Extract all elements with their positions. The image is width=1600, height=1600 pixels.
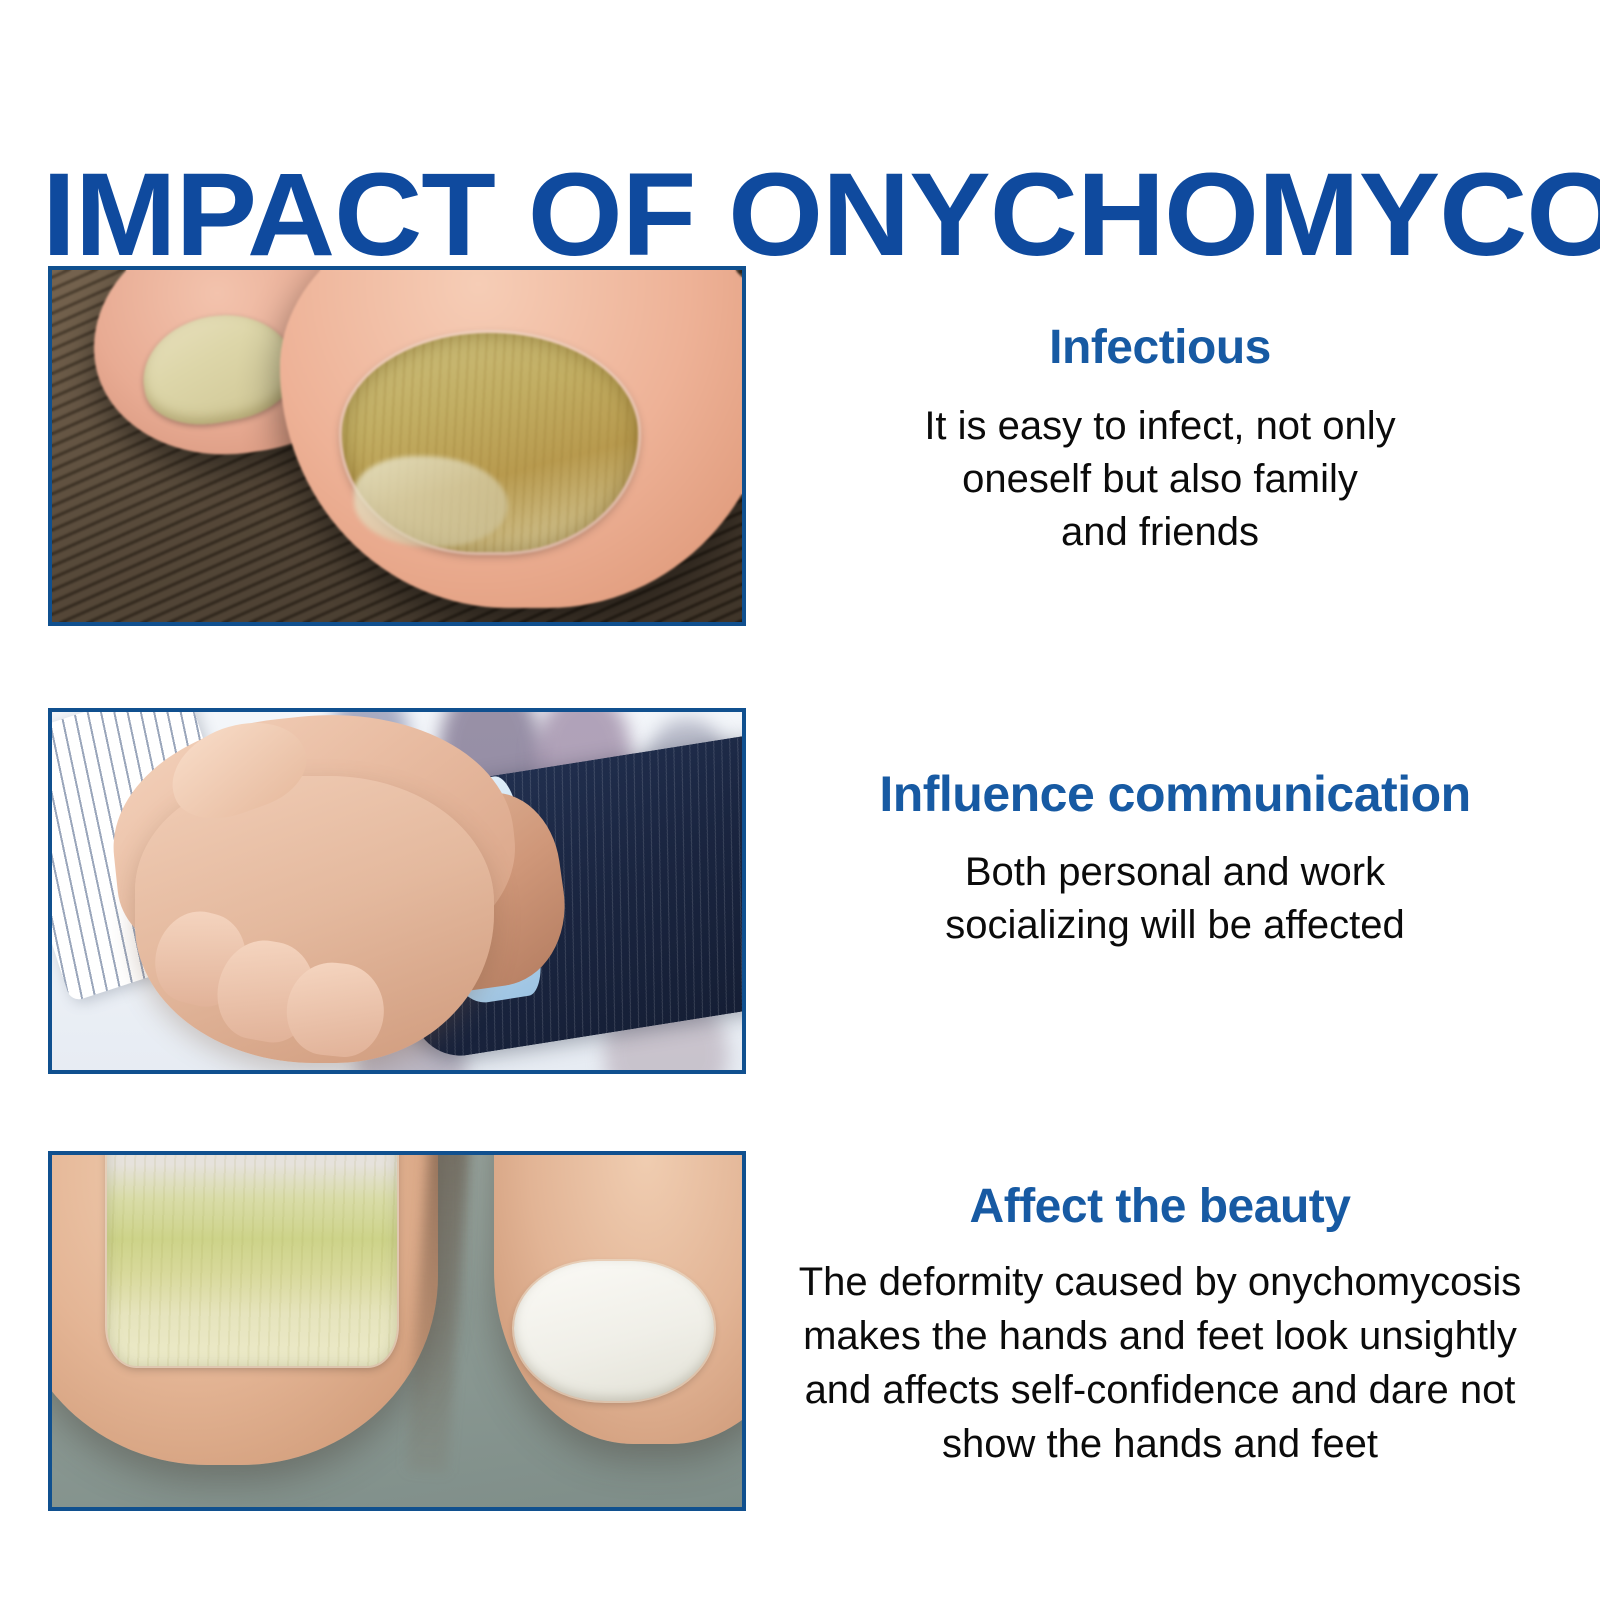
section-body-infectious: It is easy to infect, not only oneself b… [790, 400, 1530, 559]
image-frame-1 [48, 266, 746, 626]
page-title: IMPACT OF ONYCHOMYCOSIS [42, 161, 1600, 269]
healthy-nail-shape [514, 1261, 714, 1402]
image-frame-3 [48, 1151, 746, 1511]
section-row-influence-communication: Influence communication Both personal an… [0, 708, 1600, 1076]
body-line: socializing will be affected [790, 899, 1560, 952]
section-row-affect-the-beauty: Affect the beauty The deformity caused b… [0, 1151, 1600, 1514]
text-block-affect-the-beauty: Affect the beauty The deformity caused b… [760, 1179, 1560, 1471]
infected-toenails-photo [52, 270, 742, 622]
body-line: oneself but also family [790, 453, 1530, 506]
body-line: show the hands and feet [760, 1417, 1560, 1471]
infected-nail-shape [107, 1155, 397, 1366]
section-heading-affect-the-beauty: Affect the beauty [760, 1179, 1560, 1235]
text-block-influence-communication: Influence communication Both personal an… [790, 766, 1560, 952]
infographic-poster: IMPACT OF ONYCHOMYCOSIS Infectious It is… [0, 0, 1600, 1600]
body-line: makes the hands and feet look unsightly [760, 1309, 1560, 1363]
handshake-photo [52, 712, 742, 1070]
body-line: The deformity caused by onychomycosis [760, 1255, 1560, 1309]
section-body-influence-communication: Both personal and work socializing will … [790, 846, 1560, 952]
body-line: and friends [790, 506, 1530, 559]
body-line: Both personal and work [790, 846, 1560, 899]
toenail-comparison-photo [52, 1155, 742, 1507]
image-frame-2 [48, 708, 746, 1074]
section-body-affect-the-beauty: The deformity caused by onychomycosis ma… [760, 1255, 1560, 1471]
text-block-infectious: Infectious It is easy to infect, not onl… [790, 320, 1530, 559]
body-line: and affects self-confidence and dare not [760, 1363, 1560, 1417]
body-line: It is easy to infect, not only [790, 400, 1530, 453]
section-row-infectious: Infectious It is easy to infect, not onl… [0, 266, 1600, 628]
section-heading-infectious: Infectious [790, 320, 1530, 376]
section-heading-influence-communication: Influence communication [790, 766, 1560, 822]
photo-blur-overlay [52, 270, 742, 622]
